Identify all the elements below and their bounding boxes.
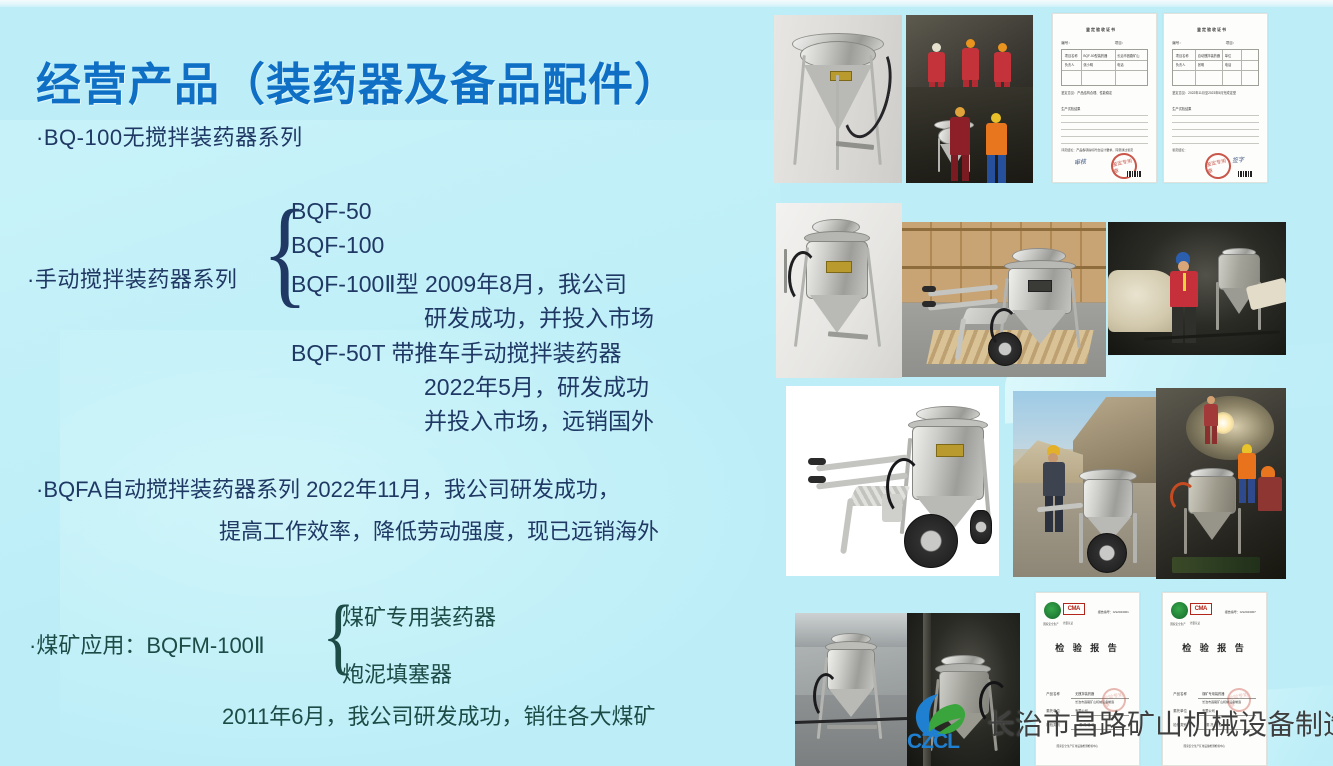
report-title-2: 检 验 报 告 <box>1163 641 1266 654</box>
page-title: 经营产品（装药器及备品配件） <box>36 48 680 113</box>
photo-product-bq100 <box>774 15 902 183</box>
manual-row-bqf50: BQF-50 <box>291 198 372 225</box>
manual-row-bqf50t-cont1: 2022年5月，研发成功 <box>424 368 649 402</box>
photo-site-tunnel-work <box>1156 388 1286 579</box>
photo-product-manual-vessel <box>776 203 902 378</box>
coal-row-special-charger: 煤矿专用装药器 <box>342 600 496 632</box>
coal-row-history: 2011年6月，我公司研发成功，销往各大煤矿 <box>222 699 656 731</box>
text-column: 经营产品（装药器及备品配件） ·BQ-100无搅拌装药器系列 ·手动搅拌装药器系… <box>0 0 770 766</box>
photo-site-operator <box>1108 222 1286 355</box>
slide-canvas: 经营产品（装药器及备品配件） ·BQ-100无搅拌装药器系列 ·手动搅拌装药器系… <box>0 0 1333 766</box>
coal-row-stemming-device: 炮泥填塞器 <box>342 657 452 689</box>
manual-row-bqf50t-cont2: 并投入市场，远销国外 <box>424 402 654 436</box>
doc-inspection-report-1: 国家安全生产 CMA 计量认证 报告编号：GS2023001 检 验 报 告 产… <box>1035 592 1140 766</box>
photo-product-bqf50t-white <box>786 386 999 576</box>
doc-certificate-2: 鉴定验收证书 编号： 项目： 项目名称 自动搅拌装药器 单位 负责人 张明 电话… <box>1163 13 1268 183</box>
bullet-manual-series-label: ·手动搅拌装药器系列 <box>27 262 237 294</box>
photo-workshop-vessel <box>795 613 907 766</box>
manual-row-bqf100ii: BQF-100Ⅱ型 2009年8月，我公司 <box>291 265 627 299</box>
photo-site-underground-vessel <box>907 613 1020 766</box>
photo-product-bqf50t-crate <box>902 222 1106 377</box>
report-title-1: 检 验 报 告 <box>1036 641 1139 654</box>
doc-inspection-report-2: 国家安全生产 CMA 计量认证 报告编号：GS2023007 检 验 报 告 产… <box>1162 592 1267 766</box>
photo-site-workers <box>906 15 1033 183</box>
bullet-bq100-series: ·BQ-100无搅拌装药器系列 <box>36 120 303 152</box>
bullet-coal-label: ·煤矿应用：BQFM-100Ⅱ <box>29 628 265 660</box>
bullet-bqfa-line1: ·BQFA自动搅拌装药器系列 2022年11月，我公司研发成功， <box>36 472 620 504</box>
photo-site-mountain-road <box>1013 391 1156 577</box>
bullet-bqfa-line2: 提高工作效率，降低劳动强度，现已远销海外 <box>219 514 659 546</box>
doc-certificate-1: 鉴定验收证书 编号： 项目： 项目名称 BQF-50型装药器 长治市昌路矿山 负… <box>1052 13 1157 183</box>
manual-row-bqf100ii-cont: 研发成功，并投入市场 <box>424 299 654 333</box>
manual-row-bqf100: BQF-100 <box>291 232 384 259</box>
manual-row-bqf50t: BQF-50T 带推车手动搅拌装药器 <box>291 334 622 368</box>
